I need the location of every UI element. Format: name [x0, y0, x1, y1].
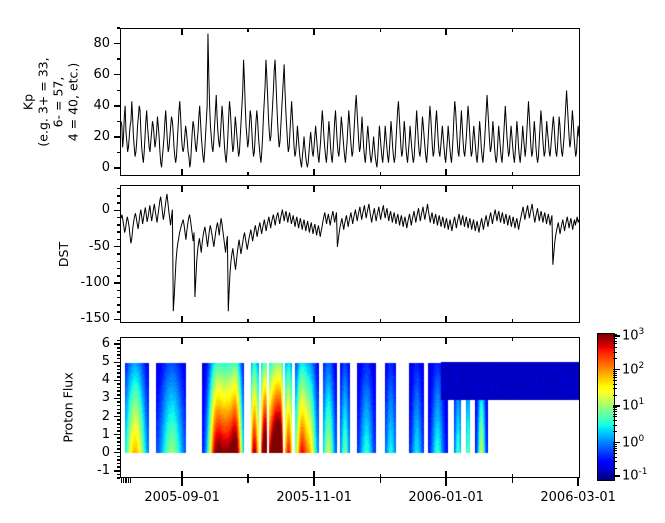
pf-ytick-2-label: 1 [50, 427, 110, 442]
colorbar-tick-minor [613, 358, 617, 359]
pf-ytick-minor [117, 347, 120, 349]
kp-axis-title: Kp(e.g. 3+ = 33,6- = 57,4 = 40, etc.) [20, 57, 80, 146]
colorbar-tick-minor [613, 373, 617, 374]
pf-ytick-5 [114, 380, 120, 382]
pf-ytick-minor [117, 477, 120, 479]
pf-ytick-3 [114, 416, 120, 418]
pf-ytick-4-label: 3 [50, 390, 110, 405]
colorbar-label-base-4: 10 [622, 468, 639, 483]
xaxis-label-3: 2006-03-01 [518, 490, 638, 505]
colorbar-label-3: 100 [622, 434, 644, 450]
colorbar-tick-minor [613, 431, 617, 432]
dst-axis-title: DST [56, 241, 71, 266]
pf-ytick-minor [117, 474, 120, 476]
colorbar-tick-minor [613, 407, 617, 408]
kp-axis-title-line-2: 6- = 57, [50, 57, 65, 146]
colorbar-label-base-0: 10 [622, 328, 639, 343]
xaxis-tick-minor-1 [380, 478, 382, 483]
colorbar-label-exponent-0: 3 [639, 327, 645, 337]
pf-ytick-1-label: 0 [50, 445, 110, 460]
colorbar-tick-minor [613, 414, 617, 415]
kp-ytick-minor [117, 27, 120, 29]
colorbar-label-base-3: 10 [622, 435, 639, 450]
pf-ytick-4 [114, 398, 120, 400]
pf-ytick-minor [117, 369, 120, 371]
colorbar-tick-minor [613, 388, 617, 389]
colorbar-tick-minor [613, 338, 617, 339]
pf-ytick-minor [117, 383, 120, 385]
colorbar-label-exponent-1: 2 [639, 361, 645, 371]
kp-ytick-4 [114, 43, 120, 45]
dst-axis-title-line-0: DST [56, 241, 71, 266]
colorbar-tick-minor [613, 352, 617, 353]
pf-ytick-7-label: 6 [50, 336, 110, 351]
dst-ytick-minor [117, 297, 120, 299]
colorbar-label-2: 101 [622, 397, 644, 413]
dst-ytick-0 [114, 210, 120, 212]
pf-ytick-minor [117, 340, 120, 342]
dst-ytick-minor [117, 304, 120, 306]
colorbar-tick-minor [613, 347, 617, 348]
pf-ytick-minor [117, 459, 120, 461]
colorbar-label-base-1: 10 [622, 362, 639, 377]
colorbar-label-exponent-4: -1 [639, 467, 648, 477]
dst-ytick-minor [117, 195, 120, 197]
colorbar-tick-minor [613, 425, 617, 426]
dst-ytick-minor [117, 231, 120, 233]
kp-ytick-1 [114, 136, 120, 138]
colorbar-tick-minor [613, 453, 617, 454]
pf-ytick-minor [117, 437, 120, 439]
pf-ytick-minor [117, 441, 120, 443]
dst-ytick-minor [117, 202, 120, 204]
kp-ytick-4-label: 80 [50, 36, 110, 51]
colorbar-tick-minor [613, 343, 617, 344]
pf-ytick-minor [117, 456, 120, 458]
colorbar-tick-minor [613, 468, 617, 469]
colorbar-tick-minor [613, 380, 617, 381]
colorbar-label-exponent-2: 1 [639, 397, 645, 407]
kp-axis-title-line-3: 4 = 40, etc.) [65, 57, 80, 146]
xaxis-edge-tick [130, 478, 131, 483]
xaxis-tick-minor-0 [247, 478, 249, 483]
colorbar-tick-4 [613, 475, 620, 477]
xaxis-tick-0 [181, 478, 183, 486]
pf-ytick-1 [114, 452, 120, 454]
pf-ytick-minor [117, 412, 120, 414]
kp-ytick-2 [114, 105, 120, 107]
pf-ytick-minor [117, 354, 120, 356]
pf-ytick-minor [117, 466, 120, 468]
dst-ytick-minor [117, 311, 120, 313]
pf-ytick-6-label: 5 [50, 354, 110, 369]
dst-ytick-minor [117, 261, 120, 263]
pf-ytick-7 [114, 343, 120, 345]
kp-ytick-3 [114, 74, 120, 76]
dst-ytick-3 [114, 319, 120, 321]
colorbar-tick-minor [613, 409, 617, 410]
colorbar-tick-minor [613, 341, 617, 342]
colorbar-tick-minor [613, 461, 617, 462]
xaxis-label-0: 2005-09-01 [122, 490, 242, 505]
pf-ytick-minor [117, 394, 120, 396]
colorbar-tick-minor [613, 371, 617, 372]
xaxis-tick-minor-2 [512, 478, 514, 483]
pf-ytick-2 [114, 434, 120, 436]
colorbar-tick-minor [613, 377, 617, 378]
colorbar-label-exponent-3: 0 [639, 434, 645, 444]
kp-series [121, 29, 579, 175]
kp-ytick-minor [117, 152, 120, 154]
dst-ytick-minor [117, 253, 120, 255]
pf-ytick-minor [117, 351, 120, 353]
pf-ytick-minor [117, 401, 120, 403]
pf-ytick-minor [117, 365, 120, 367]
pf-ytick-0 [114, 470, 120, 472]
proton-flux-spectrogram [121, 338, 579, 477]
colorbar-tick-minor [613, 416, 617, 417]
dst-ytick-3-label: -150 [50, 311, 110, 326]
xaxis-tick-3 [577, 478, 579, 486]
colorbar-tick-minor [613, 450, 617, 451]
colorbar-tick-minor [613, 444, 617, 445]
colorbar-tick-minor [613, 411, 617, 412]
figure-canvas: 0204060800-50-100-150-101234562005-09-01… [0, 0, 665, 523]
pf-ytick-minor [117, 430, 120, 432]
pf-ytick-minor [117, 405, 120, 407]
pf-ytick-minor [117, 448, 120, 450]
colorbar-tick-minor [613, 336, 617, 337]
dst-ytick-2-label: -100 [50, 275, 110, 290]
colorbar-label-1: 102 [622, 361, 644, 377]
xaxis-tick-2 [445, 478, 447, 486]
dst-ytick-0-label: 0 [50, 202, 110, 217]
pf-ytick-minor [117, 445, 120, 447]
colorbar-label-base-2: 10 [622, 398, 639, 413]
pf-ytick-minor [117, 423, 120, 425]
colorbar-tick-minor [613, 420, 617, 421]
xaxis-tick-1 [313, 478, 315, 486]
dst-ytick-1 [114, 246, 120, 248]
xaxis-label-1: 2005-11-01 [254, 490, 374, 505]
dst-ytick-minor [117, 275, 120, 277]
pf-ytick-minor [117, 409, 120, 411]
colorbar-tick-minor [613, 446, 617, 447]
colorbar-tick-minor [613, 395, 617, 396]
dst-ytick-minor [117, 217, 120, 219]
pf-ytick-6 [114, 362, 120, 364]
pf-ytick-minor [117, 387, 120, 389]
kp-ytick-minor [117, 121, 120, 123]
pf-ytick-minor [117, 463, 120, 465]
dst-series [121, 186, 579, 322]
kp-ytick-minor [117, 90, 120, 92]
proton-flux-axis-title-line-0: Proton Flux [61, 372, 76, 442]
kp-axis-title-line-1: (e.g. 3+ = 33, [35, 57, 50, 146]
colorbar-tick-minor [613, 384, 617, 385]
xaxis-label-2: 2006-01-01 [386, 490, 506, 505]
colorbar-tick-minor [613, 334, 617, 335]
pf-ytick-minor [117, 358, 120, 360]
dst-ytick-minor [117, 239, 120, 241]
dst-ytick-minor [117, 224, 120, 226]
dst-ytick-minor [117, 290, 120, 292]
pf-ytick-minor [117, 427, 120, 429]
colorbar-tick-minor [613, 457, 617, 458]
colorbar-tick-minor [613, 375, 617, 376]
kp-ytick-minor [117, 58, 120, 60]
pf-ytick-0-label: -1 [50, 463, 110, 478]
dst-ytick-minor [117, 188, 120, 190]
proton-flux-axis-title: Proton Flux [61, 372, 76, 442]
kp-axis-title-line-0: Kp [20, 57, 35, 146]
kp-ytick-0-label: 0 [50, 160, 110, 175]
pf-ytick-5-label: 4 [50, 372, 110, 387]
pf-ytick-minor [117, 390, 120, 392]
dst-ytick-2 [114, 282, 120, 284]
pf-ytick-minor [117, 372, 120, 374]
pf-ytick-minor [117, 376, 120, 378]
kp-ytick-0 [114, 167, 120, 169]
colorbar-label-0: 103 [622, 327, 644, 343]
colorbar-tick-minor [613, 448, 617, 449]
colorbar-label-4: 10-1 [622, 467, 648, 483]
dst-ytick-minor [117, 268, 120, 270]
pf-ytick-minor [117, 419, 120, 421]
pf-ytick-3-label: 2 [50, 409, 110, 424]
